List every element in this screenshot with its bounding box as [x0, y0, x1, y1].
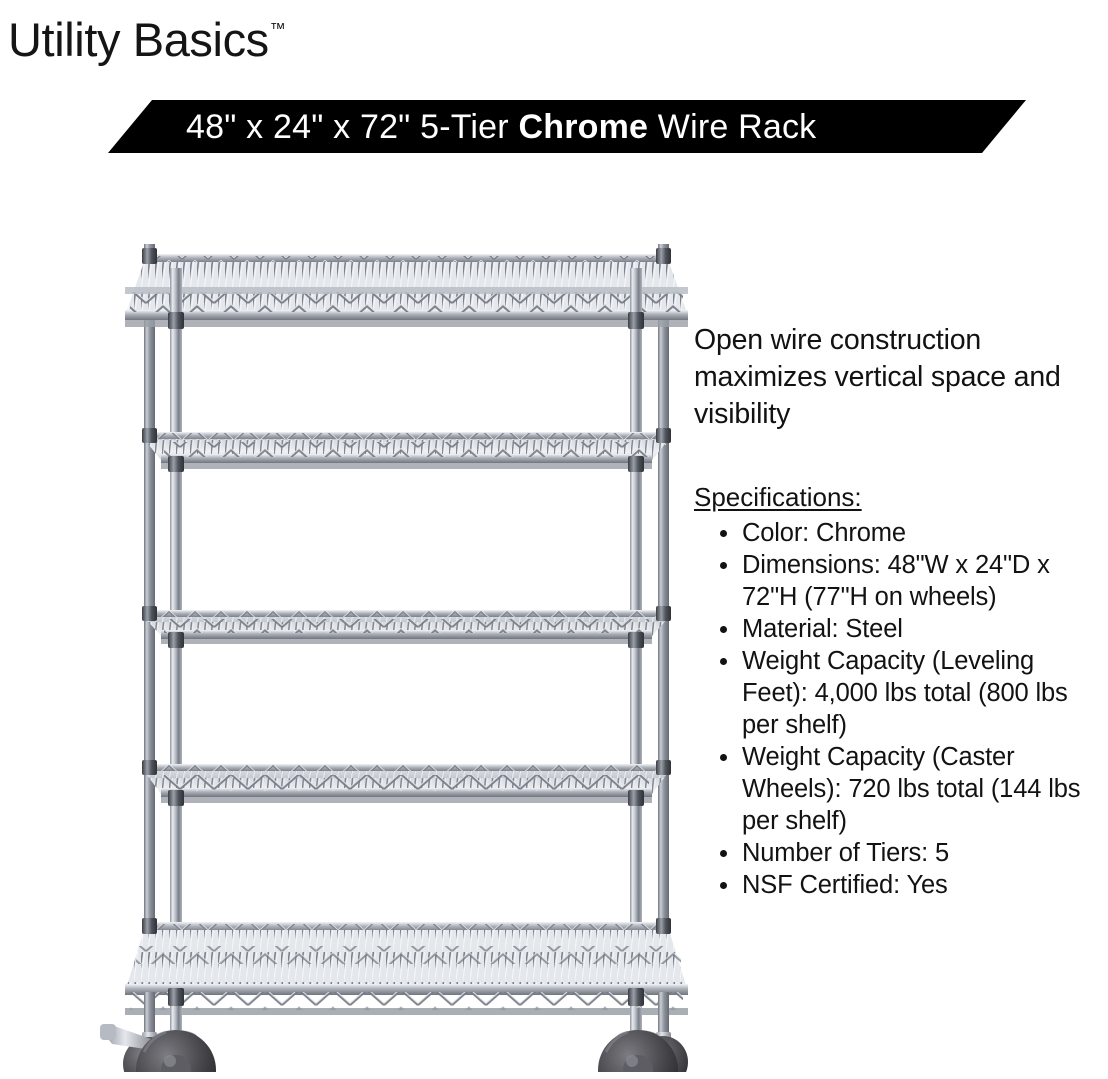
- title-suffix: Wire Rack: [648, 108, 816, 146]
- wire-rack-illustration: [78, 232, 688, 1072]
- spec-item-label: Number of Tiers: 5: [742, 839, 949, 867]
- copy-column: Open wire construction maximizes vertica…: [694, 322, 1106, 901]
- spec-item-label: Weight Capacity (Caster Wheels): 720 lbs…: [742, 743, 1080, 835]
- spec-item: Weight Capacity (Leveling Feet): 4,000 l…: [720, 645, 1106, 741]
- shelf-tier-1: [125, 254, 688, 327]
- title-banner: 48" x 24" x 72" 5-Tier Chrome Wire Rack: [108, 100, 1026, 153]
- caster-front-left: [100, 1024, 216, 1072]
- bullet-icon: [720, 882, 727, 889]
- specifications-heading: Specifications:: [694, 481, 862, 513]
- spec-item-label: NSF Certified: Yes: [742, 871, 948, 899]
- spec-item-label: Color: Chrome: [742, 519, 906, 547]
- shelf-tier-5: [125, 922, 688, 1015]
- bullet-icon: [720, 754, 727, 761]
- spec-item: NSF Certified: Yes: [720, 869, 1106, 901]
- spec-item: Color: Chrome: [720, 517, 1106, 549]
- bullet-icon: [720, 530, 727, 537]
- trademark-symbol: ™: [270, 21, 286, 38]
- bullet-icon: [720, 626, 727, 633]
- spec-item-label: Weight Capacity (Leveling Feet): 4,000 l…: [742, 647, 1068, 739]
- specifications-list: Color: Chrome Dimensions: 48"W x 24"D x …: [694, 517, 1106, 901]
- spec-item-label: Dimensions: 48"W x 24"D x 72"H (77"H on …: [742, 551, 1050, 611]
- specifications-heading-wrap: Specifications:: [694, 433, 1106, 513]
- shelf-tier-4: [144, 764, 669, 803]
- product-image-wire-rack: [78, 232, 688, 1072]
- feature-headline: Open wire construction maximizes vertica…: [694, 322, 1106, 433]
- bullet-icon: [720, 850, 727, 857]
- title-banner-text: 48" x 24" x 72" 5-Tier Chrome Wire Rack: [186, 108, 816, 146]
- spec-item: Number of Tiers: 5: [720, 837, 1106, 869]
- spec-item: Material: Steel: [720, 613, 1106, 645]
- title-emphasis: Chrome: [518, 108, 648, 146]
- spec-item: Weight Capacity (Caster Wheels): 720 lbs…: [720, 741, 1106, 837]
- bullet-icon: [720, 562, 727, 569]
- shelf-tier-2: [144, 432, 669, 469]
- spec-item-label: Material: Steel: [742, 615, 903, 643]
- spec-item: Dimensions: 48"W x 24"D x 72"H (77"H on …: [720, 549, 1106, 613]
- brand-name: Utility Basics: [8, 13, 269, 66]
- brand-logo: Utility Basics™: [8, 2, 286, 68]
- shelf-tier-3: [144, 610, 669, 644]
- title-prefix: 48" x 24" x 72" 5-Tier: [186, 108, 518, 146]
- infographic-page: Utility Basics™ 48" x 24" x 72" 5-Tier C…: [0, 0, 1108, 1079]
- bullet-icon: [720, 658, 727, 665]
